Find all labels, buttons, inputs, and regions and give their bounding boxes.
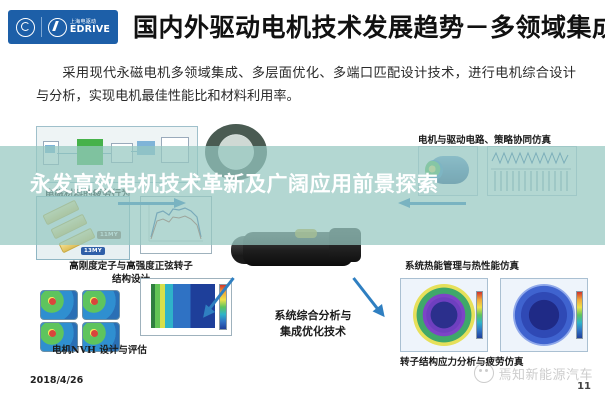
stress-cross-section bbox=[500, 278, 588, 352]
fea-tile bbox=[82, 290, 120, 320]
body-paragraph: 采用现代永磁电机多领域集成、多层面优化、多端口匹配设计技术，进行电机综合设计与分… bbox=[36, 62, 576, 108]
logo-en-name: EDRIVE bbox=[70, 25, 110, 35]
color-legend-bar bbox=[476, 291, 483, 339]
edrive-swirl-icon bbox=[48, 18, 67, 37]
color-legend-bar bbox=[576, 291, 583, 339]
contour-plot bbox=[140, 278, 232, 336]
thermal-field-ring bbox=[413, 284, 475, 346]
caption-center: 系统综合分析与 集成优化技术 bbox=[248, 308, 378, 340]
slide-date: 2018/4/26 bbox=[30, 375, 83, 386]
watermark: 焉知新能源汽车 bbox=[474, 363, 593, 383]
slide-canvas: 上海电驱动 EDRIVE 国内外驱动电机技术发展趋势－多领域集成 采用现代永磁电… bbox=[0, 0, 605, 400]
caption-cosim: 电机与驱动电路、策略协同仿真 bbox=[418, 132, 551, 146]
arrow-down-right bbox=[352, 277, 379, 310]
page-number: 11 bbox=[577, 381, 591, 392]
fea-tile bbox=[40, 290, 78, 320]
watermark-label: 焉知新能源汽车 bbox=[498, 364, 593, 383]
overlay-title-text: 永发高效电机技术革新及广阔应用前景探索 bbox=[30, 170, 575, 200]
circle-spiral-icon bbox=[16, 18, 35, 37]
edrive-logo: 上海电驱动 EDRIVE bbox=[8, 10, 118, 44]
thermal-cross-section bbox=[400, 278, 488, 352]
smiley-circle-icon bbox=[474, 363, 494, 383]
caption-thermal: 系统热能管理与热性能仿真 bbox=[405, 258, 519, 272]
logo-wordmark: 上海电驱动 EDRIVE bbox=[48, 18, 110, 37]
magnet-tag-13my: 13MY bbox=[81, 247, 105, 255]
stress-field-ring bbox=[513, 284, 575, 346]
page-title: 国内外驱动电机技术发展趋势－多领域集成 bbox=[133, 8, 593, 44]
logo-divider bbox=[41, 17, 42, 37]
caption-nvh: 电机NVH 设计与评估 bbox=[52, 342, 147, 356]
slide-header: 上海电驱动 EDRIVE 国内外驱动电机技术发展趋势－多领域集成 bbox=[0, 0, 605, 52]
